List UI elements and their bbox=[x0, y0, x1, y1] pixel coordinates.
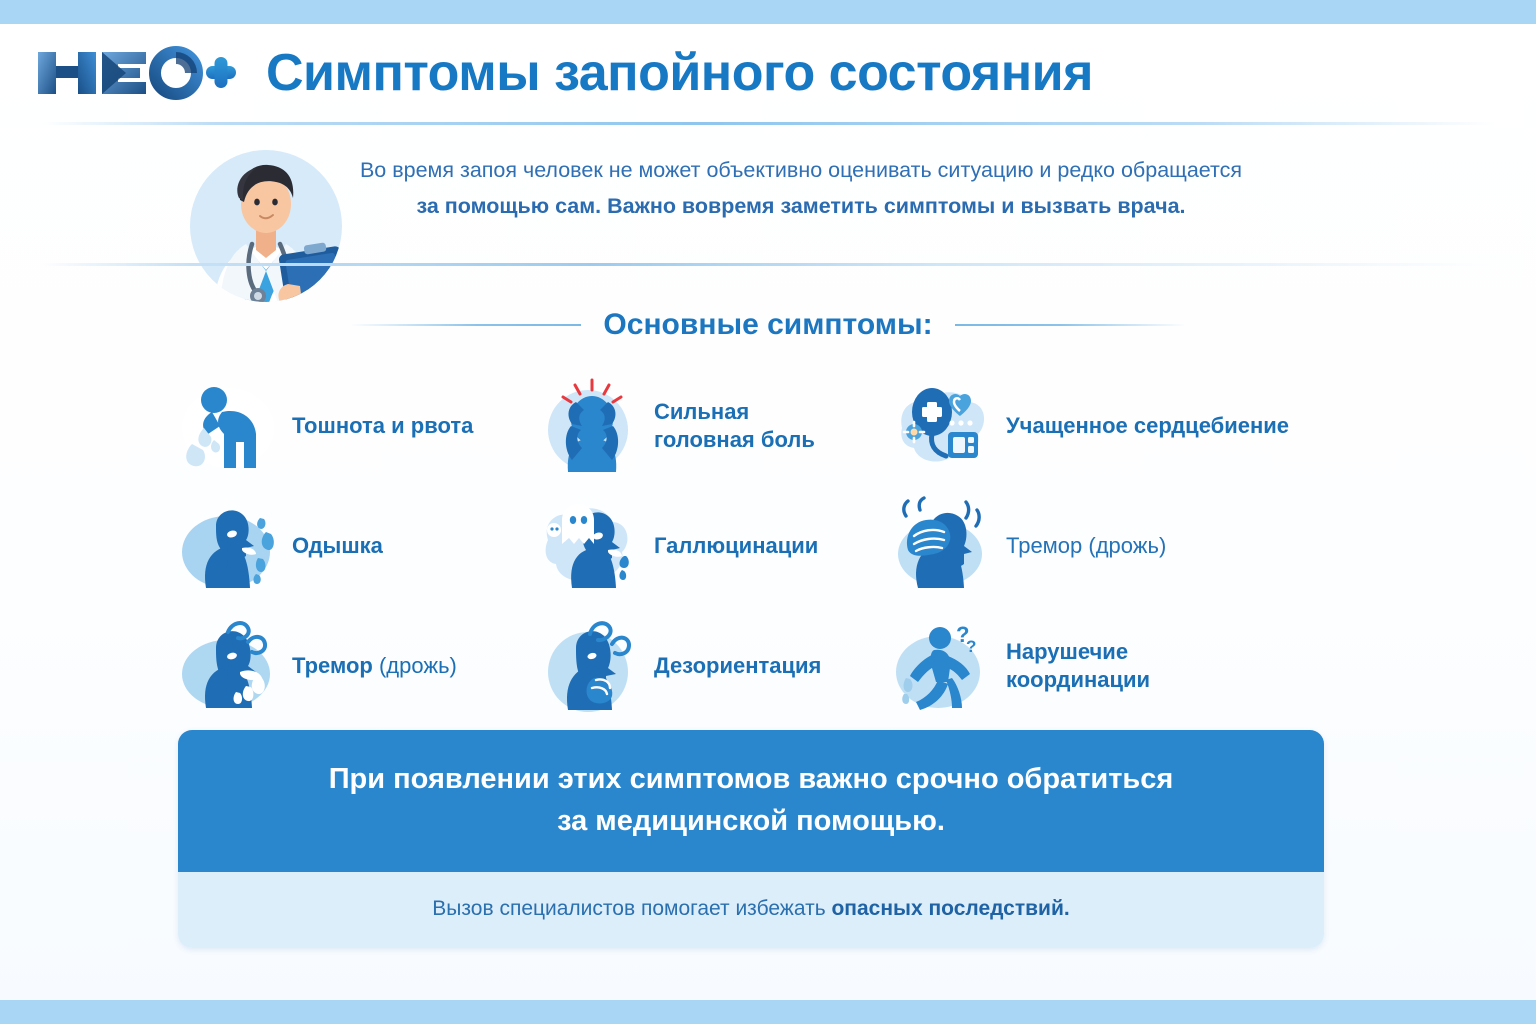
symptom-label: Сильная головная боль bbox=[654, 398, 815, 454]
symptom-label: Нарушечие координации bbox=[1006, 638, 1150, 694]
intro-line-1: Во время запоя человек не может объектив… bbox=[318, 152, 1284, 188]
headache-icon bbox=[538, 376, 642, 476]
banner-headline-line1: При появлении этих симптомов важно срочн… bbox=[218, 758, 1284, 800]
intro-line-2: за помощью сам. Важно вовремя заметить с… bbox=[318, 188, 1284, 224]
symptom-label-line2: головная боль bbox=[654, 427, 815, 452]
svg-text:?: ? bbox=[966, 637, 976, 656]
banner-note-block: Вызов специалистов помогает избежать опа… bbox=[178, 872, 1324, 948]
frame-band-top bbox=[0, 0, 1536, 24]
symptom-grid: Тошнота и рвота bbox=[176, 366, 1360, 726]
symptom-label: Тремор (дрожь) bbox=[1006, 532, 1166, 560]
page-title: Симптомы запойного состояния bbox=[266, 47, 1093, 99]
frame-band-bottom bbox=[0, 1000, 1536, 1024]
section-header: Основные симптомы: bbox=[0, 302, 1536, 348]
poster-header: Симптомы запойного состояния bbox=[0, 24, 1536, 122]
section-rule-left bbox=[349, 324, 581, 326]
symptom-item[interactable]: Галлюцинации bbox=[538, 486, 890, 606]
symptom-item[interactable]: ? ? Нарушечие координации bbox=[890, 606, 1360, 726]
poster-canvas: Симптомы запойного состояния bbox=[0, 24, 1536, 1000]
hallucination-icon bbox=[538, 496, 642, 596]
header-divider bbox=[42, 122, 1494, 125]
symptom-label-line1: Сильная bbox=[654, 399, 749, 424]
coordination-icon: ? ? bbox=[890, 616, 994, 716]
banner-note-plain: Вызов специалистов помогает избежать bbox=[432, 897, 831, 920]
shortness-breath-icon bbox=[176, 496, 280, 596]
intro-paragraph: Во время запоя человек не может объектив… bbox=[318, 152, 1284, 224]
section-title: Основные симптомы: bbox=[603, 308, 932, 342]
vomiting-icon bbox=[176, 376, 280, 476]
intro-section: Во время запоя человек не может объектив… bbox=[0, 132, 1536, 264]
intro-divider bbox=[40, 263, 1496, 266]
symptom-item[interactable]: Одышка bbox=[176, 486, 538, 606]
symptom-item[interactable]: Дезориентация bbox=[538, 606, 890, 726]
symptom-label-main: Тремор bbox=[292, 653, 379, 678]
symptom-label: Одышка bbox=[292, 532, 383, 560]
symptom-item[interactable]: Тремор (дрожь) bbox=[176, 606, 538, 726]
section-rule-right bbox=[955, 324, 1187, 326]
symptom-label: Тремор (дрожь) bbox=[292, 652, 457, 680]
banner-note: Вызов специалистов помогает избежать опа… bbox=[218, 894, 1284, 924]
call-to-action-banner: При появлении этих симптомов важно срочн… bbox=[178, 730, 1324, 948]
symptom-label: Тошнота и рвота bbox=[292, 412, 473, 440]
banner-note-strong: опасных последствий. bbox=[831, 897, 1069, 920]
symptom-label-sub: (дрожь) bbox=[379, 653, 457, 678]
heart-monitor-icon bbox=[890, 376, 994, 476]
symptom-label: Дезориентация bbox=[654, 652, 821, 680]
symptom-label: Галлюцинации bbox=[654, 532, 818, 560]
tremor-sweat-icon bbox=[176, 616, 280, 716]
tremor-head-icon bbox=[890, 496, 994, 596]
symptom-item[interactable]: Тремор (дрожь) bbox=[890, 486, 1360, 606]
neo-plus-logo-icon bbox=[36, 43, 236, 103]
banner-headline-line2: за медицинской помощью. bbox=[218, 800, 1284, 842]
symptom-item[interactable]: Учащенное сердцебиение bbox=[890, 366, 1360, 486]
symptom-item[interactable]: Сильная головная боль bbox=[538, 366, 890, 486]
symptom-label-line1: Нарушечие bbox=[1006, 639, 1128, 664]
disorientation-icon bbox=[538, 616, 642, 716]
symptom-item[interactable]: Тошнота и рвота bbox=[176, 366, 538, 486]
symptom-label: Учащенное сердцебиение bbox=[1006, 412, 1289, 440]
banner-headline-block: При появлении этих симптомов важно срочн… bbox=[178, 730, 1324, 872]
symptom-label-line2: координации bbox=[1006, 667, 1150, 692]
